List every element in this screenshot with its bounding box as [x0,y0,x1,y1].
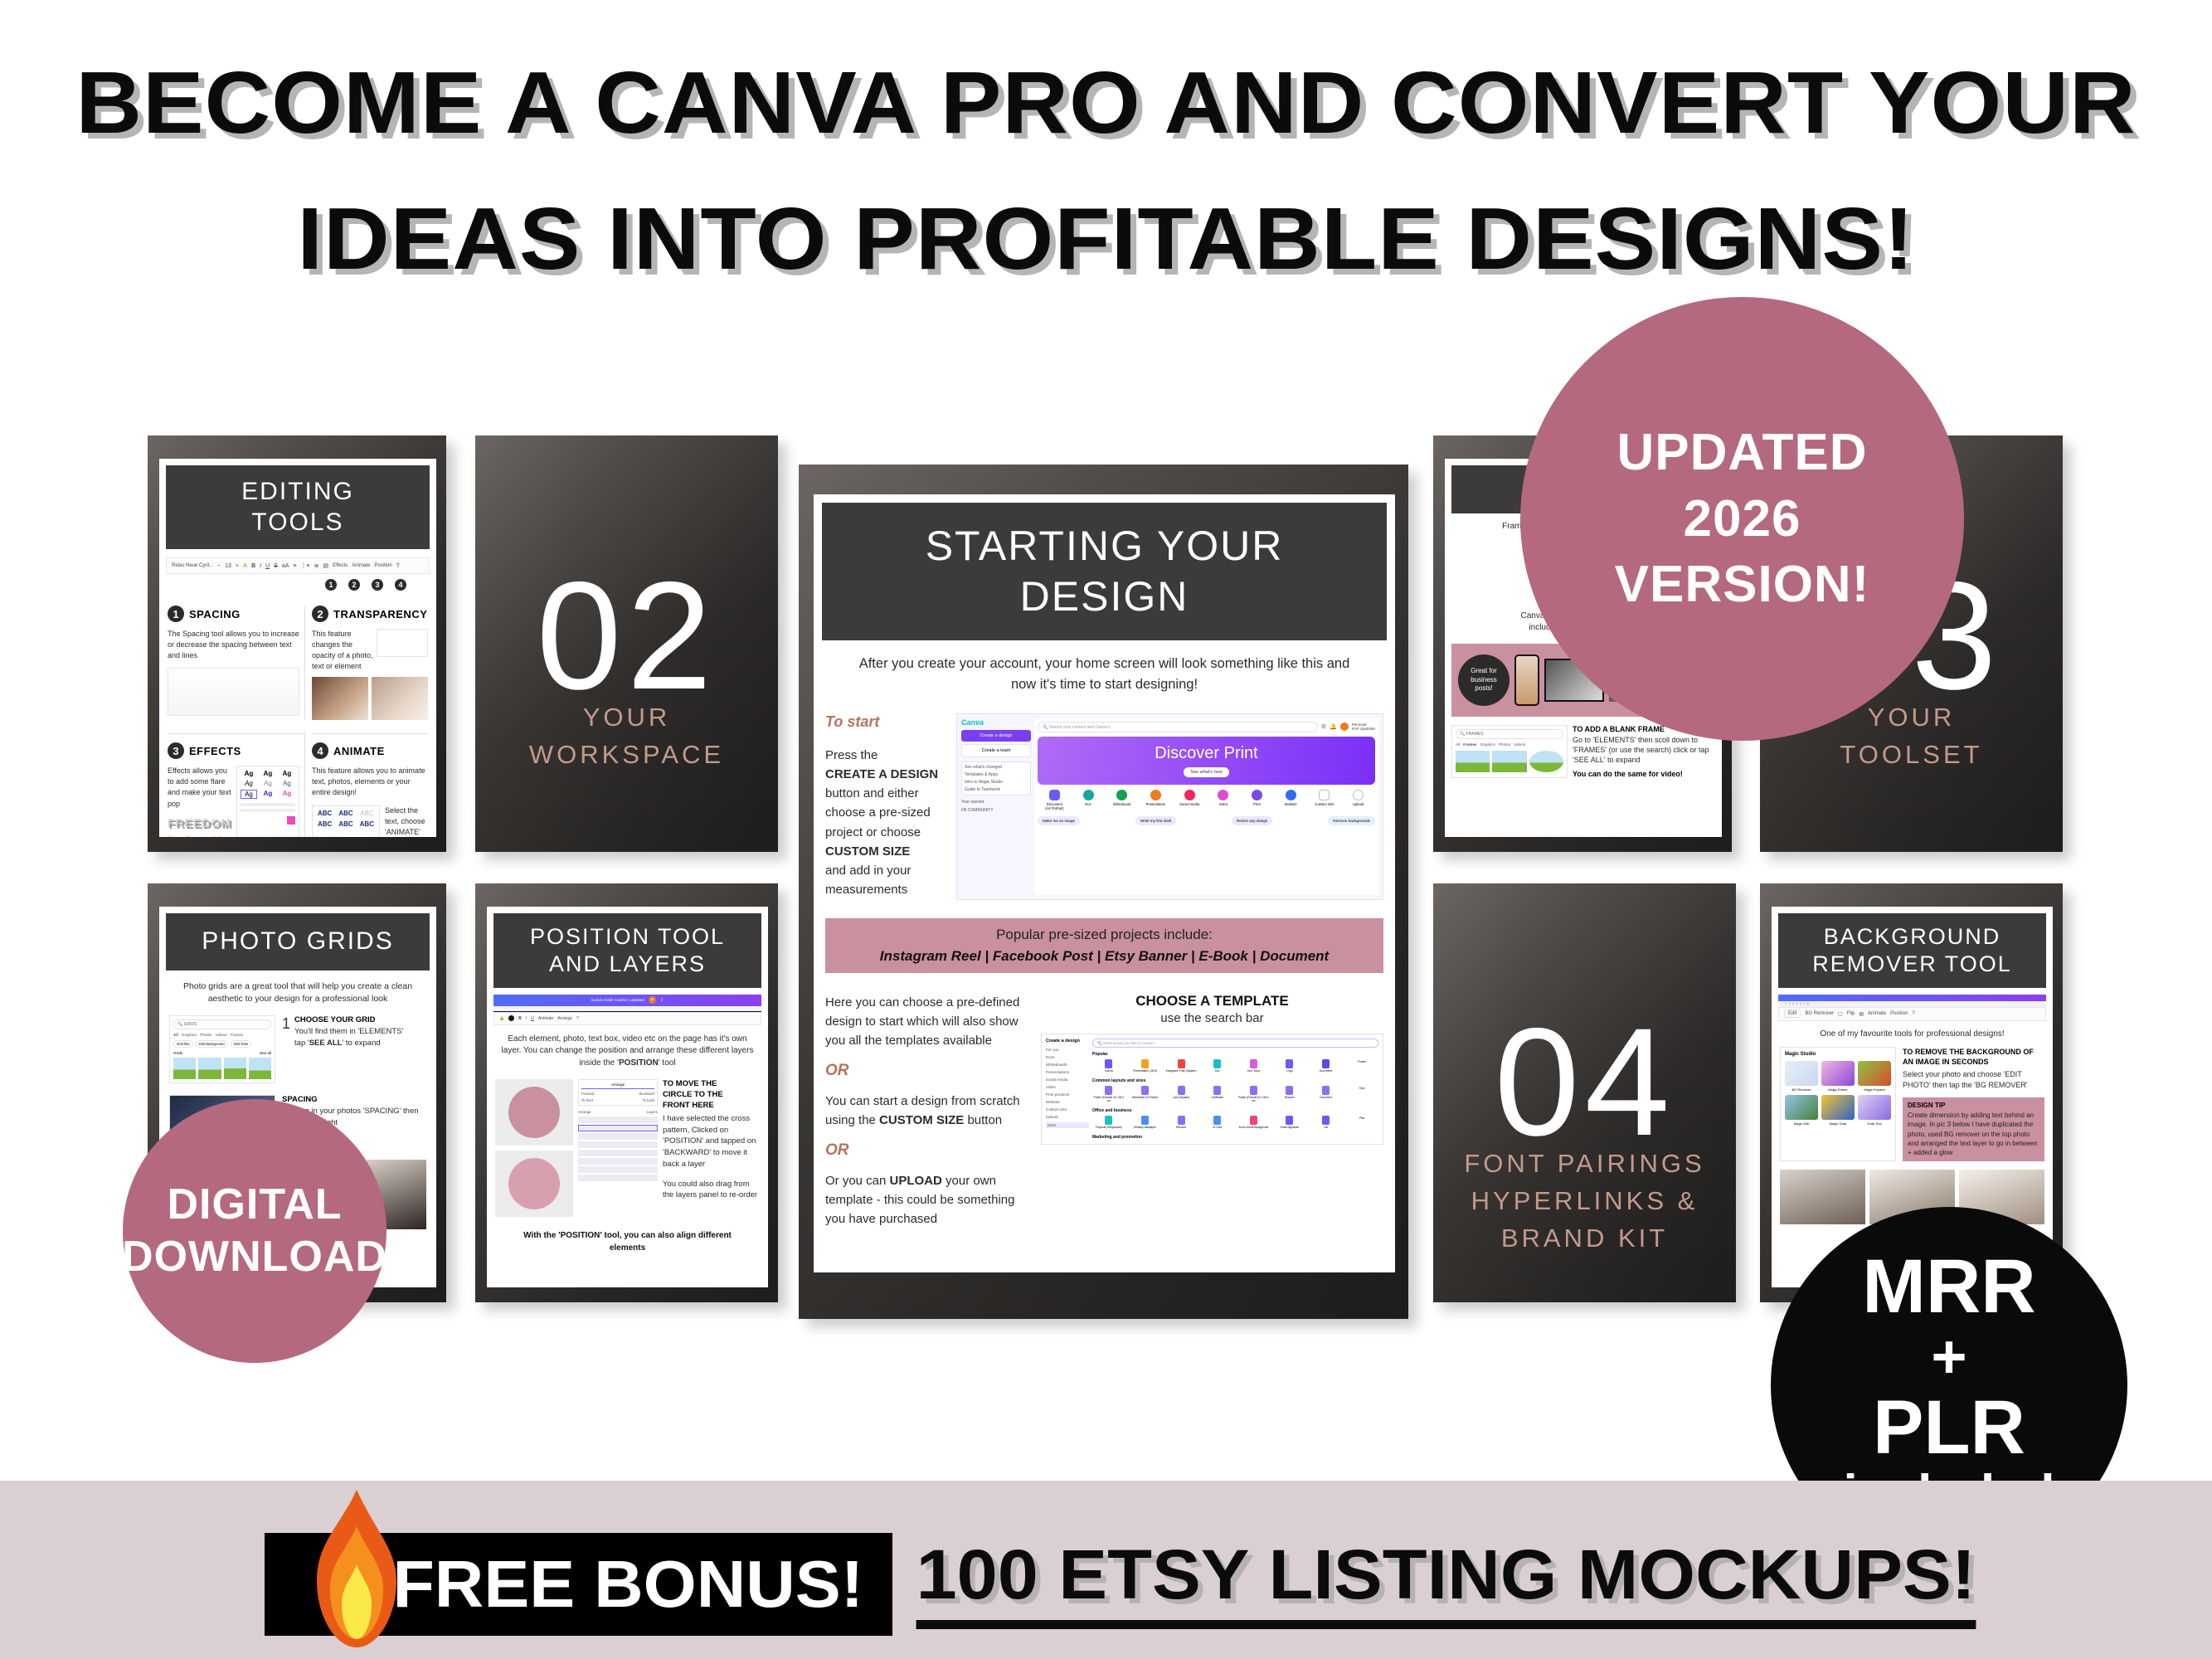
tile-label: Upload [1341,802,1375,806]
spacing-number-badge: 1 [168,606,184,622]
template-sidebar-item[interactable]: Upload [1046,1115,1089,1119]
frames-tip-bold: You can do the same for video! [1573,770,1715,778]
transparency-panel-mock [377,629,428,657]
grids-search-input[interactable]: 🔍 GRIDS [173,1019,271,1029]
effects-note: Here I've used the 'SPLICE' option [168,834,231,837]
magic-tile-label: Magic Grab [1821,1121,1855,1126]
lower-body-3-bold: UPLOAD [890,1174,942,1188]
animate-panel-mock: ABC ABC ABC ABC ABC ABC [312,805,380,837]
magic-tile[interactable]: Grab Text [1858,1095,1891,1126]
starting-design-sheet: STARTING YOUR DESIGN After you create yo… [814,494,1395,1272]
underline-icon[interactable]: U [531,1016,534,1021]
frames-tip-body: Go to 'ELEMENTS' then scoll down to 'FRA… [1573,735,1715,765]
left-bold-create-design: CREATE A DESIGN [825,767,938,781]
help-icon[interactable]: ? [576,1016,579,1021]
spacing-text: The Spacing tool allows you to increase … [168,629,299,661]
help-icon[interactable]: ? [1912,1011,1914,1016]
badge-line-1: Great for [1471,667,1497,675]
arrange-to-front[interactable]: To front [581,1098,593,1102]
grids-chips[interactable]: Grid line Grid background Grid lines [173,1040,271,1048]
template-cell[interactable]: Card (Square) [1164,1086,1198,1102]
avatar[interactable] [1340,722,1349,731]
spacing-icon[interactable]: ≣ [314,562,319,569]
right-title-line1: TO MOVE THE [663,1079,717,1088]
template-sidebar-item[interactable]: Social media [1046,1078,1089,1082]
chip[interactable]: Write my first draft [1135,816,1176,825]
tile-label: Video [1206,802,1240,806]
frame-result[interactable] [1529,751,1563,772]
effects-text: Effects allows you to add some flare and… [168,766,231,809]
bg-remover-button[interactable]: BG Remover [1805,1011,1834,1016]
frames-search-input[interactable]: 🔍 FRAMES [1456,729,1563,739]
account-sub: PLR Upstrider [1352,727,1375,731]
lower-body-2-post: button [964,1113,1002,1127]
template-cell-label: Document [1310,1069,1343,1073]
tile[interactable]: Upload [1341,790,1375,810]
tile[interactable]: Doc [1072,790,1106,810]
editing-tools-item-effects: 3 EFFECTS Effects allows you to add some… [168,733,305,837]
canva-sidebar[interactable]: Canva Create a design Create a team See … [961,718,1031,895]
layer-row[interactable] [578,1150,658,1156]
intro-post: ' tool [659,1058,676,1068]
grid-result[interactable] [249,1058,271,1079]
position-tool-sheet: POSITION TOOL AND LAYERS Canva Crash Cou… [487,907,768,1287]
animate-swatch[interactable]: ABC [316,820,333,828]
demo-pattern-front [495,1079,573,1146]
see-whats-changed[interactable]: See what's changed [965,765,1028,770]
frames-results-grid [1456,751,1563,772]
editor-toolbar[interactable]: 🔒 B I U Animate Arrange ? [493,1012,761,1025]
your-starred-label[interactable]: Your starred [961,800,1031,805]
toolbar-increase-icon[interactable]: + [236,563,239,569]
intro-bold: POSITION [619,1058,659,1068]
bg-remover-toolbar[interactable]: Edit BG Remover ▢ Flip ▤ Animate Positio… [1778,1007,2046,1021]
canva-home-screenshot[interactable]: Canva Create a design Create a team See … [956,713,1383,900]
badge-line-3: posts! [1475,684,1492,693]
card-chapter-04[interactable]: 04 FONT PAIRINGS HYPERLINKS & BRAND KIT [1433,883,1736,1302]
template-search-input[interactable]: 🔍 What would you like to create? [1092,1039,1378,1048]
design-tip-box: DESIGN TIP Create dimension by adding te… [1903,1097,2044,1161]
template-cell[interactable]: List [1310,1116,1343,1129]
badge-mrr-line1: MRR [1862,1248,2036,1325]
position-tool-title-line2: AND LAYERS [497,951,758,978]
template-cell[interactable]: Poster (Portrait) 42 x 59.4 cm [1237,1086,1271,1102]
template-cell-label: Poster (Portrait) 42 x 59.4 cm [1092,1096,1125,1102]
template-cell-label: Resume [1273,1096,1306,1099]
effect-swatch[interactable]: Ag [260,790,276,799]
canva-editor-chrome[interactable]: Canva Crash Course | Updated P ⇧ 🔒 B I U… [493,995,761,1025]
tab-videos[interactable]: Videos [1514,742,1525,747]
chapter-04-sub-line1: FONT PAIRINGS [1433,1146,1736,1183]
phone-frame-photo [1514,654,1539,706]
card-starting-your-design[interactable]: STARTING YOUR DESIGN After you create yo… [799,465,1408,1319]
left-text-1: Press the [825,748,878,762]
transparency-icon[interactable]: ▤ [1859,1011,1864,1017]
underline-icon[interactable]: U [265,563,270,569]
editor-top-bar[interactable]: Canva Crash Course | Updated P ⇧ [493,995,761,1006]
magic-tile-label: Magic Eraser [1821,1087,1855,1092]
animate-number-badge: 4 [312,742,328,759]
template-cell-label: Presentation (16:9) [1129,1069,1162,1073]
design-tip-title: DESIGN TIP [1908,1102,2039,1109]
effect-swatch[interactable]: Ag [260,780,276,787]
template-cell-label: Your Story [1237,1069,1271,1073]
magic-tile[interactable]: Magic Grab [1821,1095,1855,1126]
popular-presized-list: Instagram Reel | Facebook Post | Etsy Ba… [832,948,1377,965]
template-cell[interactable]: Instagram Post (Square) [1164,1059,1198,1073]
template-cell-label: Zoom Virtual Background [1237,1126,1271,1129]
crop-icon[interactable]: ▢ [1838,1011,1843,1017]
magic-tile[interactable]: BG Remover [1785,1061,1818,1092]
starting-design-lower-row: Here you can choose a pre-defined design… [825,993,1383,1229]
layer-row[interactable] [578,1166,658,1173]
arrange-forward[interactable]: Forward [581,1092,594,1096]
template-sidebar-item[interactable]: Video [1046,1085,1089,1089]
animate-swatch[interactable]: ABC [358,820,376,828]
template-row: Proposal (Responsive) Desktop Wallpaper … [1092,1116,1378,1129]
grids-search-panel[interactable]: 🔍 GRIDS All Graphics Photos Videos Frame… [169,1015,275,1083]
position-tool-title-line1: POSITION TOOL [497,923,758,951]
position-tool-right-body: I have selected the cross pattern, Click… [663,1113,760,1170]
layer-row[interactable] [578,1117,658,1123]
effect-swatch[interactable]: Ag [279,770,295,777]
grids-see-all-link[interactable]: See all [260,1051,271,1055]
bg-remover-editor-chrome[interactable]: 2 3 4 5 6 7 8 Edit BG Remover ▢ Flip ▤ A… [1778,995,2046,1021]
tile[interactable]: Social media [1173,790,1207,810]
template-cell[interactable]: Your Story [1237,1059,1271,1073]
template-cell[interactable]: Proposal (Responsive) [1092,1116,1125,1129]
edit-photo-button[interactable]: Edit [1784,1010,1801,1018]
editing-tools-quadrants: 1 SPACING The Spacing tool allows you to… [168,606,428,837]
card-position-tool[interactable]: POSITION TOOL AND LAYERS Canva Crash Cou… [475,883,778,1302]
arrange-tab[interactable]: Arrange [581,1082,654,1089]
template-cell[interactable]: Desktop Wallpaper [1129,1116,1162,1129]
account-label: Personal PLR Upstrider [1352,722,1375,732]
create-a-team-button[interactable]: Create a team [961,744,1031,757]
transparency-photo-after [372,677,428,720]
editor-ruler [493,1006,761,1012]
tab-videos[interactable]: Videos [216,1033,227,1037]
template-sidebar[interactable]: Create a design For you Docs Whiteboards… [1046,1039,1089,1140]
effect-swatch[interactable]: Ag [279,790,295,799]
spacing-title: SPACING [189,608,241,620]
frame-result[interactable] [1492,751,1526,772]
search-icon: 🔍 [1097,1041,1102,1045]
template-cell[interactable]: Document [1310,1059,1343,1073]
step-1-body-line1: You'll find them in 'ELEMENTS' [294,1027,403,1036]
tab-frames[interactable]: Frames [1463,742,1476,747]
template-sidebar-item[interactable]: Print products [1046,1092,1089,1097]
settings-gear-icon[interactable]: ⚙ [1321,723,1326,730]
tile-sublabel: (A4 Portrait) [1038,806,1072,810]
tile[interactable]: Print [1240,790,1274,810]
chip-grid-line[interactable]: Grid line [173,1040,193,1048]
strikethrough-icon[interactable]: S [274,563,278,569]
position-tool-demo-row: Arrange Forward Backward To front To bac… [495,1079,760,1217]
align-icon[interactable]: ≡ [293,563,296,569]
chapter-03-sub-line2: TOOLSET [1760,737,2063,774]
hero-title: Discover Print [1155,744,1257,763]
tab-frames[interactable]: Frames [231,1033,244,1037]
magic-tile[interactable]: Magic Edit [1785,1095,1818,1126]
template-picker-header: Create a design [1046,1039,1089,1044]
template-cell[interactable]: Resume [1164,1116,1198,1129]
photo-grids-step-1: 🔍 GRIDS All Graphics Photos Videos Frame… [169,1015,426,1083]
or-label-1: OR [825,1058,1033,1082]
left-text-3: and add in your measurements [825,864,911,897]
tile-label: Website [1274,802,1308,806]
color-swatch-icon[interactable] [508,1015,514,1021]
chip-grid-lines[interactable]: Grid lines [231,1040,252,1048]
hero-button[interactable]: See what's new [1184,767,1228,777]
template-cell[interactable]: Presentation (16:9) [1129,1059,1162,1073]
grid-result[interactable] [224,1058,246,1079]
template-cell[interactable]: Poster [1345,1059,1378,1073]
lower-body-1: Here you can choose a pre-defined design… [825,993,1033,1051]
template-sidebar-item[interactable]: Custom size [1046,1107,1089,1112]
template-cell[interactable]: Zoom Virtual Background [1237,1116,1271,1129]
create-a-design-button[interactable]: Create a design [961,730,1031,742]
starting-design-title-line2: DESIGN [825,572,1383,622]
toolbar-font-size[interactable]: 13 [225,563,231,569]
frames-search-panel[interactable]: 🔍 FRAMES All Frames Graphics Photos Vide… [1451,725,1568,778]
template-cell[interactable]: Email Signature [1273,1116,1306,1129]
template-sidebar-item[interactable]: Website [1046,1100,1089,1104]
notifications-bell-icon[interactable]: 🔔 [1330,723,1337,730]
canva-main-panel: 🔍 Search your content and Canva's ⚙ 🔔 Pe… [1034,718,1378,895]
chip[interactable]: Make me an image [1038,816,1080,825]
canva-search-input[interactable]: 🔍 Search your content and Canva's [1038,722,1318,732]
position-tool-intro: Each element, photo, text box, video etc… [498,1034,756,1070]
animate-swatch[interactable]: ABC [316,810,333,817]
toolbar-decrease-icon[interactable]: − [217,563,221,569]
editing-tools-sheet: EDITING TOOLS Relas Neue Cyril... − 13 +… [159,459,436,837]
layers-tab-layers[interactable]: Layers [647,1110,658,1114]
canva-logo[interactable]: Canva [961,718,1031,727]
tab-graphics[interactable]: Graphics [1480,742,1495,747]
magic-tile[interactable]: Magic Eraser [1821,1061,1855,1092]
right-title-line2: CIRCLE TO THE [663,1090,723,1099]
layer-row[interactable] [578,1133,658,1140]
effects-title: EFFECTS [189,745,241,757]
account-name: Personal [1352,722,1367,727]
text-color-icon[interactable]: A [243,563,247,569]
fire-icon [307,1490,406,1647]
position-button[interactable]: Position [1890,1011,1908,1016]
layer-row[interactable] [578,1175,658,1181]
letter-case-icon[interactable]: aA [282,563,289,569]
effect-swatch[interactable]: Ag [241,770,257,777]
share-icon[interactable]: ⇧ [660,998,664,1003]
chip[interactable]: Resize any design [1232,816,1273,825]
toolbar-animate-button[interactable]: Animate [352,563,370,568]
arrange-panel[interactable]: Arrange Forward Backward To front To bac… [578,1079,658,1106]
tab-graphics[interactable]: Graphics [182,1033,197,1037]
template-sidebar-item-more[interactable]: More [1046,1122,1089,1128]
template-cell-label: Canva [1092,1069,1125,1073]
editor-animate-button[interactable]: Animate [538,1016,553,1021]
chapter-02-sub-line1: YOUR [475,699,778,737]
lower-body-2-bold: CUSTOM SIZE [879,1113,964,1127]
magic-tile[interactable]: Magic Expand [1858,1061,1891,1092]
effects-number-badge: 3 [168,742,184,759]
grids-results [173,1058,271,1079]
layer-row[interactable] [578,1158,658,1165]
effect-swatch[interactable]: Ag [279,780,295,787]
grids-search-term: GRIDS [184,1022,197,1027]
tab-all[interactable]: All [173,1033,178,1037]
template-cell[interactable]: Document [1310,1086,1343,1102]
animate-swatch[interactable]: ABC [337,810,354,817]
fb-community-item[interactable]: FB COMMUNITY [961,808,1031,813]
editing-tools-item-spacing: 1 SPACING The Spacing tool allows you to… [168,606,305,720]
arrange-to-back[interactable]: To back [643,1098,654,1102]
template-cell[interactable]: Plan [1345,1116,1378,1129]
tile[interactable]: Website [1274,790,1308,810]
effect-swatch[interactable]: Ag [260,770,276,777]
template-sidebar-item[interactable]: Presentations [1046,1070,1089,1074]
tile[interactable]: Whiteboard [1105,790,1139,810]
callout-2: 2 [348,579,360,591]
animate-note: Select the text, choose 'ANIMATE' and ch… [385,805,428,837]
template-cell[interactable]: Resume [1273,1086,1306,1102]
flip-button[interactable]: Flip [1847,1011,1855,1016]
tile[interactable]: Custom size [1308,790,1342,810]
frames-bottom-row: 🔍 FRAMES All Frames Graphics Photos Vide… [1451,725,1715,778]
chapter-04-number: 04 [1433,1006,1736,1160]
template-cell-label: Doc [1201,1069,1234,1073]
template-cell-label: Logo [1273,1069,1306,1073]
canva-nav-list[interactable]: See what's changed Templates & Apps Intr… [961,761,1031,795]
chip-grid-background[interactable]: Grid background [196,1040,228,1048]
template-cell-label: Flyer [1345,1087,1378,1090]
step-1-body-pre: tap ' [294,1039,309,1048]
template-cell[interactable]: Poster (Portrait) 42 x 59.4 cm [1092,1086,1125,1102]
chip[interactable]: Remove backgrounds [1328,816,1375,825]
effect-swatch[interactable]: Ag [241,780,257,787]
toolbar-font-name[interactable]: Relas Neue Cyril... [172,563,213,568]
template-cell-label: Email Signature [1273,1126,1306,1129]
bg-right-title-line2: AN IMAGE IN SECONDS [1903,1058,1989,1066]
tile[interactable]: Presentation [1139,790,1173,810]
arrange-backward[interactable]: Backward [639,1092,654,1096]
discover-print-hero[interactable]: Discover Print See what's new [1038,737,1375,785]
animate-swatch[interactable]: ABC [337,820,354,828]
tile-label: Whiteboard [1105,802,1139,806]
tab-photos[interactable]: Photos [1499,742,1510,747]
design-tip-body: Create dimension by adding text behind a… [1908,1111,2039,1157]
badge-mrr-line3: PLR [1873,1389,2025,1466]
template-cell-label: Poster (Portrait) 42 x 59.4 cm [1237,1096,1271,1102]
editor-position-button[interactable]: Arrange [557,1016,572,1021]
transparency-icon[interactable]: ▤ [323,562,328,569]
template-sidebar-item[interactable]: Whiteboards [1046,1063,1089,1067]
template-sidebar-item[interactable]: Docs [1046,1055,1089,1059]
canva-text-toolbar[interactable]: Relas Neue Cyril... − 13 + A B I U S aA … [166,557,430,574]
tile[interactable]: Video [1206,790,1240,810]
grid-result[interactable] [173,1058,196,1079]
help-icon[interactable]: ? [396,563,400,569]
nav-item[interactable]: Guide to Teamwork [965,787,1028,792]
starting-design-title-line1: STARTING YOUR [825,521,1383,572]
frames-search-term: FRAMES [1466,732,1484,737]
nav-item[interactable]: Templates & Apps [965,772,1028,777]
position-tool-title: POSITION TOOL AND LAYERS [493,913,761,988]
magic-tile-label: BG Remover [1785,1087,1818,1092]
transparency-photo-before [312,677,368,720]
lock-icon[interactable]: 🔒 [499,1016,504,1021]
template-section-heading: Popular [1092,1052,1378,1057]
step-1-body-bold: SEE ALL [309,1039,343,1048]
chapter-02-sub-line2: WORKSPACE [475,737,778,774]
layers-tab-arrange[interactable]: Arrange [578,1110,591,1114]
editing-tools-item-animate: 4 ANIMATE This feature allows you to ani… [312,733,428,837]
magic-studio-grid: BG Remover Magic Eraser Magic Expand Mag… [1785,1061,1891,1126]
search-icon: 🔍 [1460,732,1465,737]
layer-row[interactable] [578,1125,658,1131]
effect-swatch[interactable]: Ag [241,790,257,799]
step-1-title: CHOOSE YOUR GRID [294,1015,403,1024]
grids-tabs[interactable]: All Graphics Photos Videos Frames [173,1033,271,1037]
italic-icon[interactable]: I [260,563,261,569]
animate-title: ANIMATE [333,745,385,757]
magic-studio-panel[interactable]: Magic Studio BG Remover Magic Eraser Mag… [1780,1047,1896,1161]
template-picker-screenshot[interactable]: Create a design For you Docs Whiteboards… [1041,1034,1383,1145]
bullet-list-icon[interactable]: ⋮≡ [300,562,309,569]
tile-label: Presentation [1139,802,1173,806]
italic-icon[interactable]: I [526,1016,527,1021]
layers-list[interactable] [578,1117,658,1181]
tile[interactable]: Document(A4 Portrait) [1038,790,1072,810]
tab-photos[interactable]: Photos [200,1033,211,1037]
animate-swatch[interactable]: ABC [358,810,376,817]
step-1-body-post: ' to expand [342,1039,380,1048]
bg-remover-main-row: Magic Studio BG Remover Magic Eraser Mag… [1780,1047,2044,1161]
bold-icon[interactable]: B [518,1016,522,1021]
grid-result[interactable] [198,1058,221,1079]
template-sidebar-item[interactable]: For you [1046,1048,1089,1052]
template-cell-label: Document [1310,1096,1343,1099]
card-chapter-02[interactable]: 02 YOUR WORKSPACE [475,435,778,852]
tab-all[interactable]: All [1456,742,1460,747]
template-cell-label: Desktop Wallpaper [1129,1126,1162,1129]
card-editing-tools[interactable]: EDITING TOOLS Relas Neue Cyril... − 13 +… [148,435,446,852]
layer-row[interactable] [578,1141,658,1148]
frames-tabs[interactable]: All Frames Graphics Photos Videos [1456,742,1563,747]
template-cell[interactable]: Doc [1201,1059,1234,1073]
toolbar-effects-button[interactable]: Effects [333,563,348,568]
frame-result[interactable] [1456,751,1490,772]
template-cell[interactable]: Flyer [1345,1086,1378,1102]
template-cell[interactable]: Worksheet A4 Portrait [1129,1086,1162,1102]
avatar[interactable]: P [649,996,656,1004]
template-cell[interactable]: Logo [1273,1059,1306,1073]
badge-line-2: business [1471,676,1497,684]
template-section-heading: Marketing and promotion [1092,1135,1378,1140]
toolbar-position-button[interactable]: Position [374,563,391,568]
animate-button[interactable]: Animate [1868,1011,1886,1016]
choose-template-sub: use the search bar [1041,1011,1383,1025]
bottom-banner: FREE BONUS! 100 ETSY LISTING MOCKUPS! [0,1481,2212,1659]
template-cell[interactable]: Canva [1092,1059,1125,1073]
template-cell[interactable]: Certificate [1201,1086,1234,1102]
template-cell[interactable]: ID Card [1201,1116,1234,1129]
step-1-body: You'll find them in 'ELEMENTS' tap 'SEE … [294,1026,403,1049]
starting-design-lower-copy: Here you can choose a pre-defined design… [825,993,1033,1229]
nav-item[interactable]: Intro to Magic Studio [965,780,1028,785]
template-cell-label: Plan [1345,1117,1378,1120]
bold-icon[interactable]: B [251,563,255,569]
